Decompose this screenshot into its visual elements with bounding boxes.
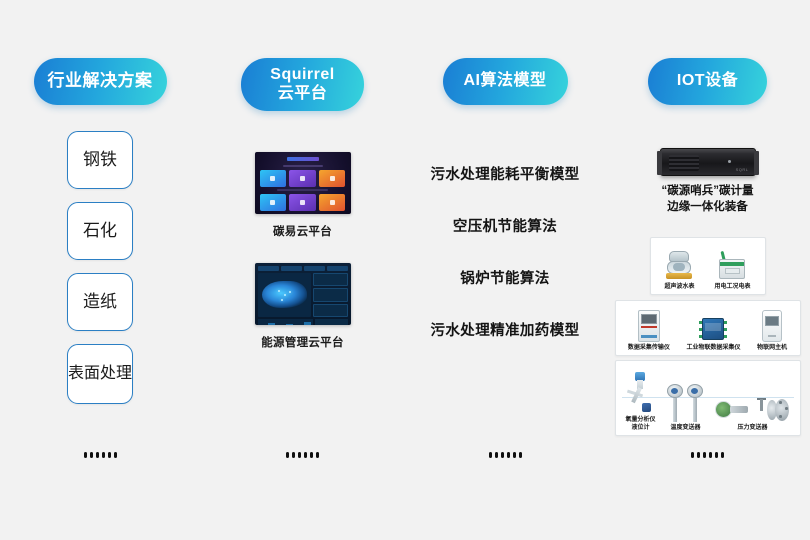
temperature-transmitter-icon: [687, 384, 703, 422]
electric-meter-icon: [717, 251, 747, 281]
industry-box-steel-label: 钢铁: [83, 150, 117, 169]
iot-host-icon: [762, 310, 782, 342]
device-label: 超声波水表: [664, 284, 694, 292]
water-meter-icon: [666, 251, 692, 281]
device-iot-host[interactable]: 物联网主机: [757, 310, 787, 353]
industry-header-pill[interactable]: 行业解决方案: [34, 58, 167, 105]
dashboard-tile: [260, 194, 287, 211]
cloud-item-energy[interactable]: 能源管理云平台: [255, 263, 351, 350]
column-industry-solutions: 行业解决方案 钢铁 石化 造纸 表面处理: [0, 0, 200, 540]
device-temperature-transmitter[interactable]: 温度变送器: [667, 384, 703, 433]
industry-header-label: 行业解决方案: [48, 71, 153, 91]
ai-header-wrap: AI算法模型: [405, 58, 605, 105]
dashboard-map: [258, 273, 311, 317]
cloud-header-pill[interactable]: Squirrel 云平台: [241, 58, 364, 111]
device-oxygen-analyzer-level-gauge[interactable]: 氧量分析仪 液位计: [625, 372, 655, 433]
cloud-platform-list: 碳易云平台: [200, 152, 405, 350]
cloud-header-label-line2: 云平台: [270, 85, 334, 104]
dashboard-tile-grid-row2: [260, 194, 346, 211]
device-data-acquisition-transmitter[interactable]: 数据采集传输仪: [628, 310, 670, 353]
energy-platform-caption: 能源管理云平台: [261, 334, 344, 350]
device-label: 物联网主机: [757, 345, 787, 353]
industry-box-surface-treatment-label: 表面处理: [68, 365, 132, 383]
device-label: 数据采集传输仪: [628, 345, 670, 353]
iot-hero-caption: “碳源哨兵”碳计量 边缘一体化装备: [662, 184, 754, 215]
ai-model-boiler-saving[interactable]: 锅炉节能算法: [460, 267, 549, 288]
dashboard-line-chart: [315, 319, 348, 325]
iot-hero-caption-line2: 边缘一体化装备: [662, 200, 754, 216]
industry-box-petrochemical-label: 石化: [83, 221, 117, 240]
ai-model-air-compressor-saving[interactable]: 空压机节能算法: [453, 215, 557, 236]
carbon-platform-screenshot: [255, 152, 351, 214]
ai-header-label: AI算法模型: [463, 72, 546, 91]
dashboard-tile-grid-row1: [260, 170, 346, 187]
device-label: 用电工况电表: [714, 284, 750, 292]
carbon-platform-caption: 碳易云平台: [273, 223, 332, 239]
device-ultrasonic-water-meter[interactable]: 超声波水表: [664, 251, 694, 292]
ai-model-list: 污水处理能耗平衡模型 空压机节能算法 锅炉节能算法 污水处理精准加药模型: [405, 163, 605, 340]
cloud-header-wrap: Squirrel 云平台: [200, 58, 405, 111]
cloud-header-label-line1: Squirrel: [270, 66, 334, 85]
dashboard-tile: [289, 170, 316, 187]
energy-platform-screenshot: [255, 263, 351, 325]
temperature-transmitter-icon: [667, 384, 683, 422]
device-label: 温度变送器: [670, 425, 700, 433]
dashboard-tile: [289, 194, 316, 211]
industry-box-steel[interactable]: 钢铁: [67, 131, 133, 189]
dashboard-side-panels: [313, 273, 348, 317]
device-label: 工业物联数据采集仪: [686, 345, 740, 353]
iot-panel-sensors: 氧量分析仪 液位计 温度变送器: [615, 360, 801, 436]
dashboard-bar-chart: [258, 319, 313, 325]
cloud-item-carbon[interactable]: 碳易云平台: [255, 152, 351, 239]
dashboard-topbar: [258, 266, 348, 271]
device-label: 氧量分析仪 液位计: [625, 417, 655, 433]
iot-gateway-icon: [699, 316, 727, 342]
column-cloud-platform: Squirrel 云平台: [200, 0, 405, 540]
industry-box-list: 钢铁 石化 造纸 表面处理: [0, 131, 200, 404]
iot-header-pill[interactable]: IOT设备: [648, 58, 767, 105]
dashboard-title-bar: [287, 157, 319, 161]
device-power-condition-meter[interactable]: 用电工况电表: [714, 251, 750, 292]
column-ai-models: AI算法模型 污水处理能耗平衡模型 空压机节能算法 锅炉节能算法 污水处理精准加…: [405, 0, 605, 540]
dashboard-tile: [319, 170, 346, 187]
ai-model-wastewater-dosing[interactable]: 污水处理精准加药模型: [431, 319, 580, 340]
device-label: 压力变送器: [737, 425, 767, 433]
device-industrial-iot-collector[interactable]: 工业物联数据采集仪: [686, 316, 740, 353]
dashboard-divider: [277, 189, 329, 191]
industry-ellipsis: [0, 452, 200, 458]
ai-header-pill[interactable]: AI算法模型: [443, 58, 568, 105]
dashboard-body: [258, 273, 348, 317]
iot-panel-collectors: 数据采集传输仪 工业物联数据采集仪 物联网主机: [615, 300, 801, 356]
dashboard-tile: [319, 194, 346, 211]
edge-server-icon: SQRL: [660, 148, 756, 176]
data-collector-cabinet-icon: [638, 310, 660, 342]
ai-model-wastewater-energy-balance[interactable]: 污水处理能耗平衡模型: [431, 163, 580, 184]
pressure-transmitter-icon: [755, 398, 789, 422]
iot-hero-caption-line1: “碳源哨兵”碳计量: [662, 184, 754, 200]
iot-panel-meters: 超声波水表 用电工况电表: [650, 237, 766, 295]
device-pressure-transmitter[interactable]: 压力变送器: [715, 398, 789, 433]
iot-ellipsis: [605, 452, 810, 458]
capability-architecture-diagram: 行业解决方案 钢铁 石化 造纸 表面处理 Squirrel: [0, 0, 810, 540]
iot-header-wrap: IOT设备: [605, 58, 810, 105]
ai-ellipsis: [405, 452, 605, 458]
industry-header-wrap: 行业解决方案: [0, 58, 200, 105]
dashboard-subtitle-bar: [283, 165, 323, 167]
oxygen-analyzer-icon: [627, 372, 653, 414]
industry-box-paper[interactable]: 造纸: [67, 273, 133, 331]
flow-sensor-icon: [715, 400, 749, 420]
column-iot-devices: IOT设备 SQRL “碳源哨兵”碳计量 边缘一体化装备 超声波水表: [605, 0, 810, 540]
iot-header-label: IOT设备: [677, 72, 738, 91]
industry-box-surface-treatment[interactable]: 表面处理: [67, 344, 133, 404]
industry-box-paper-label: 造纸: [83, 292, 117, 311]
dashboard-tile: [260, 170, 287, 187]
industry-box-petrochemical[interactable]: 石化: [67, 202, 133, 260]
cloud-ellipsis: [200, 452, 405, 458]
dashboard-bottom-row: [258, 319, 348, 325]
iot-hero-device[interactable]: SQRL “碳源哨兵”碳计量 边缘一体化装备: [605, 148, 810, 215]
device-label-line2: 液位计: [625, 425, 655, 433]
